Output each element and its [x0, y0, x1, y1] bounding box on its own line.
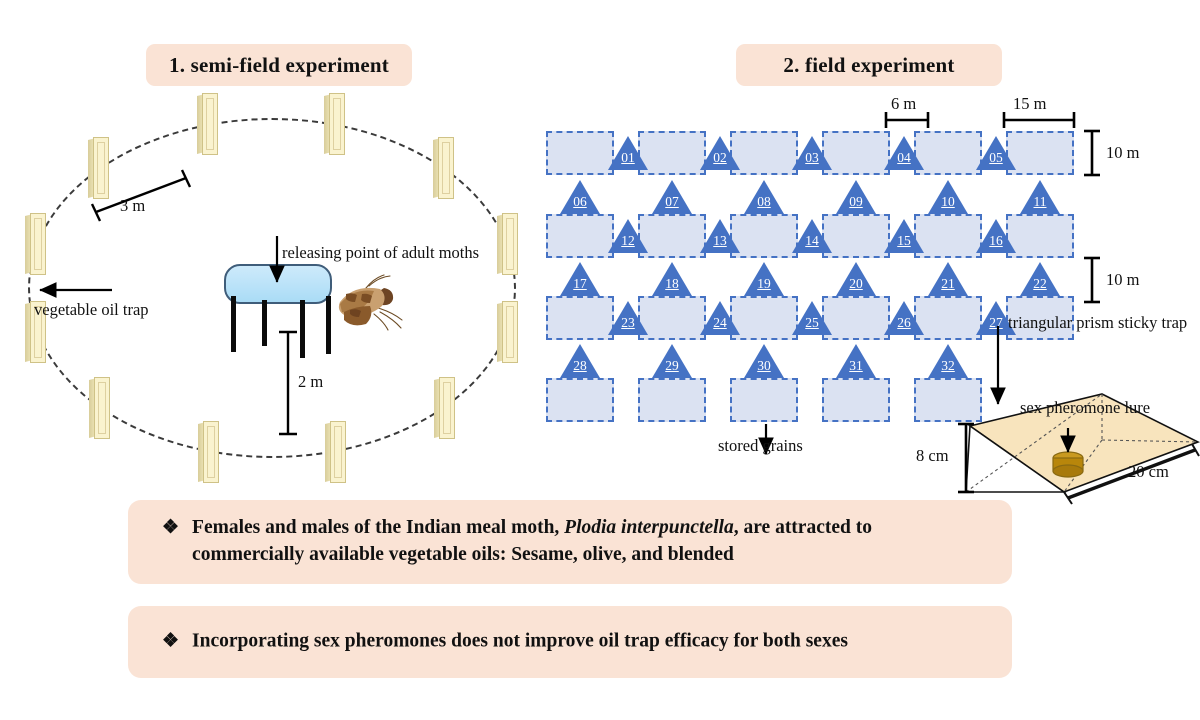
stored-grain-block: [546, 378, 614, 422]
label-20cm: 20 cm: [1128, 462, 1169, 482]
trap-number: 19: [744, 277, 784, 291]
semi-field-banner: 1. semi-field experiment: [146, 44, 412, 86]
vegetable-oil-trap: [324, 93, 347, 155]
label-15m: 15 m: [1013, 94, 1046, 114]
trap-number: 32: [928, 359, 968, 373]
table-leg: [262, 300, 267, 346]
oil-trap-face: [502, 213, 518, 275]
trap-number: 13: [700, 234, 740, 248]
stored-grain-block: [638, 378, 706, 422]
sticky-trap-22: 22: [1020, 262, 1060, 296]
trap-number: 25: [792, 316, 832, 330]
sticky-trap-16: 16: [976, 219, 1016, 253]
trap-number: 28: [560, 359, 600, 373]
stored-grain-block: [546, 131, 614, 175]
stored-grain-block: [546, 296, 614, 340]
sticky-trap-21: 21: [928, 262, 968, 296]
trap-number: 04: [884, 151, 924, 165]
stored-grain-block: [730, 296, 798, 340]
sticky-trap-12: 12: [608, 219, 648, 253]
finding-box-1: ❖ Females and males of the Indian meal m…: [128, 500, 1012, 584]
trap-number: 16: [976, 234, 1016, 248]
oil-trap-face: [329, 93, 345, 155]
sticky-trap-23: 23: [608, 301, 648, 335]
finding-box-2: ❖ Incorporating sex pheromones does not …: [128, 606, 1012, 678]
trap-number: 20: [836, 277, 876, 291]
label-vegetable-oil-trap: vegetable oil trap: [34, 300, 149, 320]
stored-grain-block: [730, 378, 798, 422]
trap-number: 10: [928, 195, 968, 209]
stored-grain-block: [822, 378, 890, 422]
trap-number: 06: [560, 195, 600, 209]
indian-meal-moth-illustration: [322, 272, 406, 334]
sticky-trap-32: 32: [928, 344, 968, 378]
label-releasing-point: releasing point of adult moths: [282, 243, 479, 263]
stored-grain-block: [914, 214, 982, 258]
oil-trap-face: [502, 301, 518, 363]
sticky-trap-11: 11: [1020, 180, 1060, 214]
sticky-trap-01: 01: [608, 136, 648, 170]
sticky-trap-08: 08: [744, 180, 784, 214]
stored-grain-block: [822, 214, 890, 258]
sticky-trap-10: 10: [928, 180, 968, 214]
finding-text-1: Females and males of the Indian meal mot…: [192, 515, 986, 569]
sticky-trap-18: 18: [652, 262, 692, 296]
finding-bullet-icon: ❖: [162, 629, 179, 655]
stored-grain-block: [730, 131, 798, 175]
sticky-trap-29: 29: [652, 344, 692, 378]
trap-number: 21: [928, 277, 968, 291]
stored-grain-block: [730, 214, 798, 258]
label-sex-pheromone-lure: sex pheromone lure: [1020, 398, 1150, 418]
sticky-trap-14: 14: [792, 219, 832, 253]
sticky-trap-17: 17: [560, 262, 600, 296]
trap-number: 03: [792, 151, 832, 165]
vegetable-oil-trap: [497, 301, 520, 363]
stored-grain-block: [914, 131, 982, 175]
label-triangular-prism-sticky-trap: triangular prism sticky trap: [1008, 313, 1187, 333]
oil-trap-face: [438, 137, 454, 199]
release-table-top: [224, 264, 332, 304]
sticky-trap-06: 06: [560, 180, 600, 214]
finding-text-2: Incorporating sex pheromones does not im…: [192, 629, 848, 656]
vegetable-oil-trap: [497, 213, 520, 275]
sticky-trap-05: 05: [976, 136, 1016, 170]
sticky-trap-13: 13: [700, 219, 740, 253]
trap-number: 17: [560, 277, 600, 291]
sticky-trap-28: 28: [560, 344, 600, 378]
stored-grain-block: [638, 296, 706, 340]
sticky-trap-07: 07: [652, 180, 692, 214]
label-stored-grains: stored grains: [718, 436, 803, 456]
sticky-trap-30: 30: [744, 344, 784, 378]
trap-number: 24: [700, 316, 740, 330]
oil-trap-face: [203, 421, 219, 483]
sticky-trap-15: 15: [884, 219, 924, 253]
label-3m: 3 m: [120, 196, 145, 216]
stored-grain-block: [822, 296, 890, 340]
trap-number: 22: [1020, 277, 1060, 291]
trap-number: 18: [652, 277, 692, 291]
label-6m: 6 m: [891, 94, 916, 114]
trap-number: 05: [976, 151, 1016, 165]
sticky-trap-26: 26: [884, 301, 924, 335]
oil-trap-face: [93, 137, 109, 199]
trap-number: 01: [608, 151, 648, 165]
oil-trap-face: [30, 213, 46, 275]
vegetable-oil-trap: [25, 213, 48, 275]
sticky-trap-24: 24: [700, 301, 740, 335]
vegetable-oil-trap: [433, 137, 456, 199]
sticky-trap-31: 31: [836, 344, 876, 378]
oil-trap-face: [94, 377, 110, 439]
oil-trap-face: [439, 377, 455, 439]
oil-trap-face: [202, 93, 218, 155]
trap-number: 29: [652, 359, 692, 373]
trap-number: 08: [744, 195, 784, 209]
sticky-trap-25: 25: [792, 301, 832, 335]
vegetable-oil-trap: [325, 421, 348, 483]
label-10m-bottom: 10 m: [1106, 270, 1139, 290]
trap-number: 26: [884, 316, 924, 330]
sticky-trap-20: 20: [836, 262, 876, 296]
sticky-trap-03: 03: [792, 136, 832, 170]
stored-grain-block: [1006, 214, 1074, 258]
oil-trap-face: [330, 421, 346, 483]
label-10m-top: 10 m: [1106, 143, 1139, 163]
stored-grain-block: [914, 296, 982, 340]
trap-number: 09: [836, 195, 876, 209]
trap-number: 23: [608, 316, 648, 330]
table-leg: [300, 300, 305, 358]
finding-bullet-icon: ❖: [162, 515, 179, 541]
trap-number: 12: [608, 234, 648, 248]
trap-number: 11: [1020, 195, 1060, 209]
field-banner: 2. field experiment: [736, 44, 1002, 86]
stored-grain-block: [638, 214, 706, 258]
vegetable-oil-trap: [198, 421, 221, 483]
vegetable-oil-trap: [89, 377, 112, 439]
trap-number: 31: [836, 359, 876, 373]
figure-canvas: 1. semi-field experiment 2. field experi…: [0, 0, 1200, 720]
table-leg: [231, 296, 236, 352]
trap-number: 02: [700, 151, 740, 165]
sticky-trap-19: 19: [744, 262, 784, 296]
sticky-trap-09: 09: [836, 180, 876, 214]
sticky-trap-04: 04: [884, 136, 924, 170]
vegetable-oil-trap: [197, 93, 220, 155]
trap-number: 07: [652, 195, 692, 209]
vegetable-oil-trap: [434, 377, 457, 439]
trap-number: 30: [744, 359, 784, 373]
trap-number: 14: [792, 234, 832, 248]
stored-grain-block: [822, 131, 890, 175]
label-8cm: 8 cm: [916, 446, 949, 466]
sticky-trap-02: 02: [700, 136, 740, 170]
stored-grain-block: [546, 214, 614, 258]
stored-grain-block: [1006, 131, 1074, 175]
label-2m: 2 m: [298, 372, 323, 392]
vegetable-oil-trap: [88, 137, 111, 199]
stored-grain-block: [638, 131, 706, 175]
trap-number: 15: [884, 234, 924, 248]
